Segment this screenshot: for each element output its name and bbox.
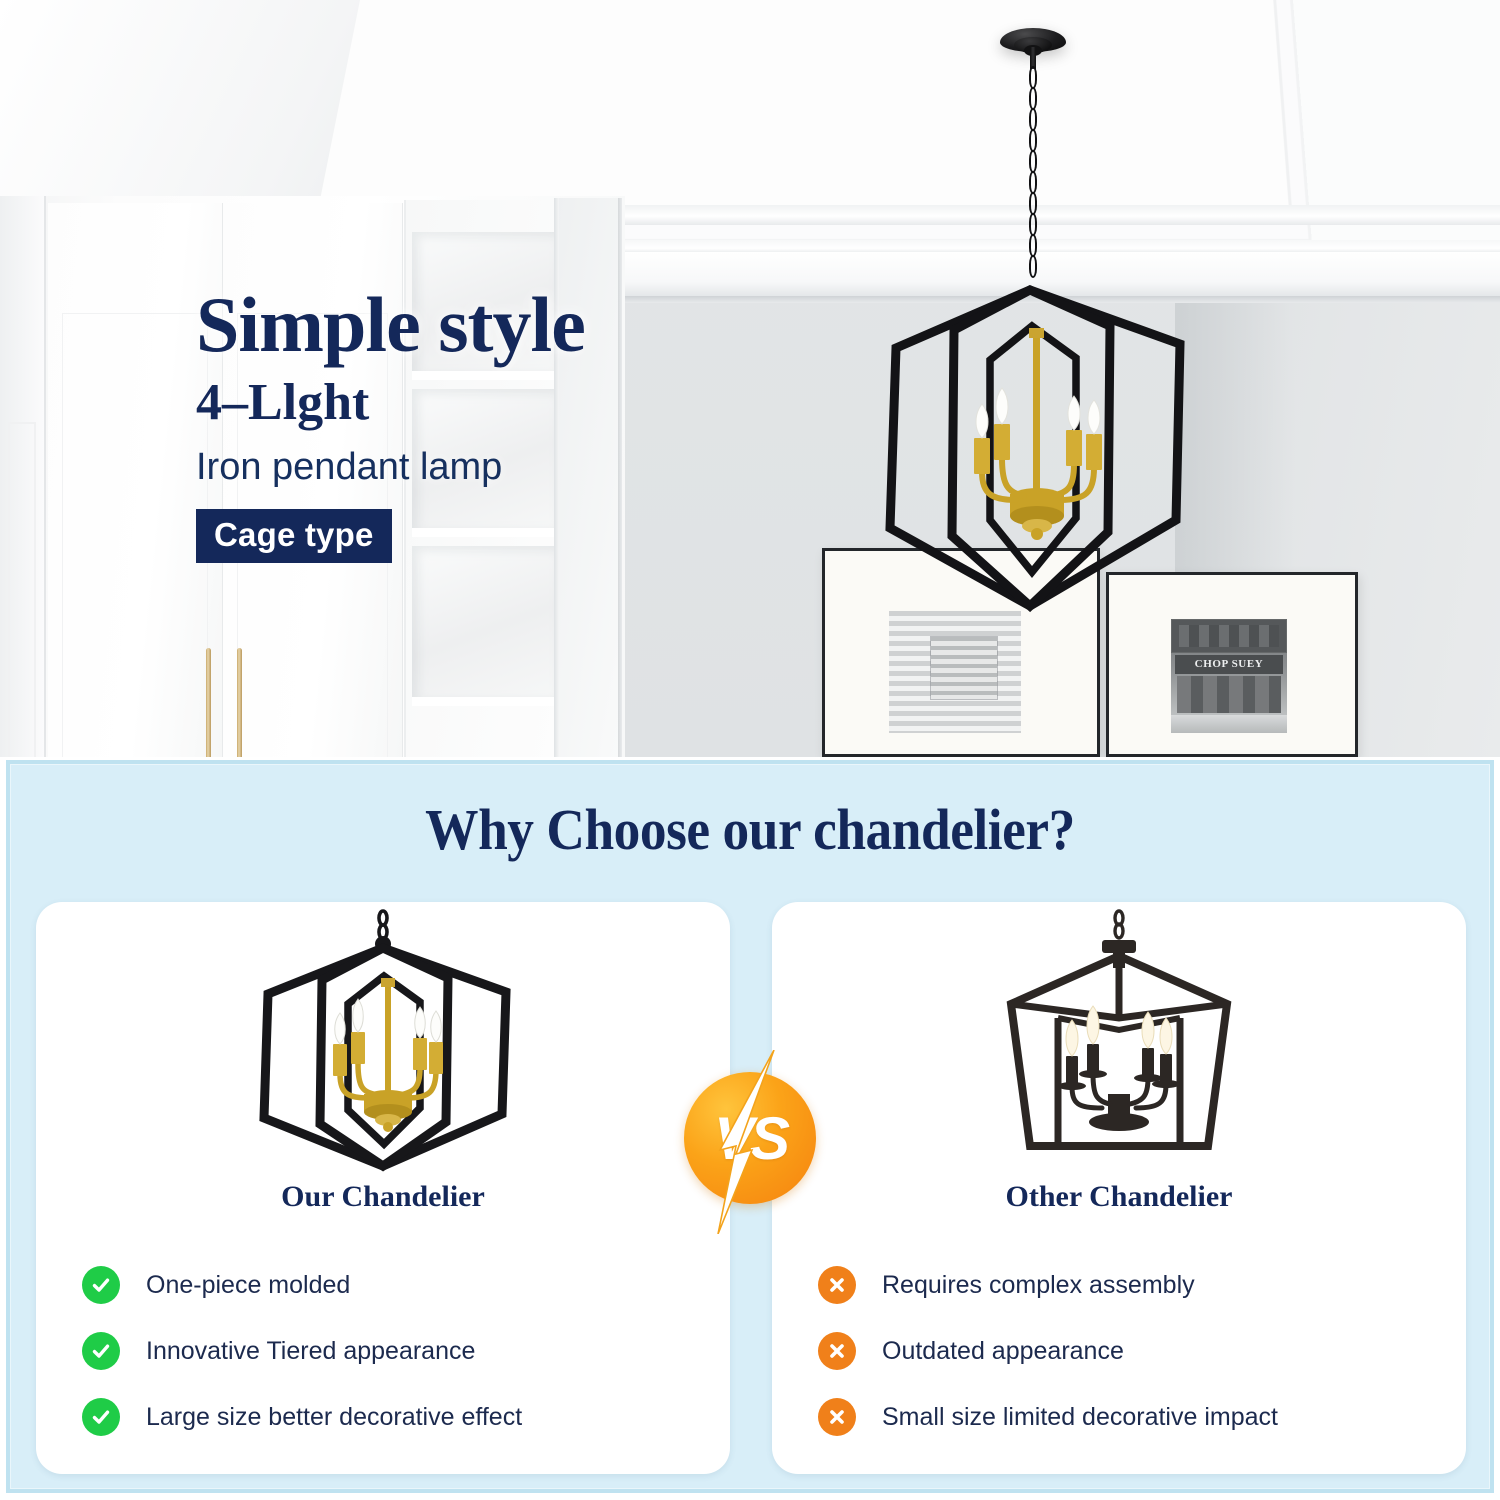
other-chandelier-bullets: Requires complex assembly Outdated appea… — [818, 1252, 1444, 1450]
list-item: Large size better decorative effect — [82, 1384, 708, 1450]
check-icon — [82, 1398, 120, 1436]
product-marketing-image: CHOP SUEY — [0, 0, 1500, 1500]
other-chandelier-image — [772, 908, 1466, 1174]
wardrobe-handle-right — [237, 648, 242, 757]
hero-chandelier — [880, 282, 1200, 614]
other-chandelier-label: Other Chandelier — [772, 1180, 1466, 1214]
hero-badge: Cage type — [196, 509, 392, 563]
hero-subtitle: 4–Llght — [196, 374, 585, 432]
our-chandelier-svg — [36, 908, 730, 1174]
shelf-niche-3 — [412, 546, 554, 706]
wall-corner-line — [618, 198, 622, 757]
photo-storefront-image: CHOP SUEY — [1171, 619, 1287, 733]
bullet-text: One-piece molded — [146, 1271, 350, 1300]
storefront-cornice — [1171, 619, 1287, 653]
list-item: Requires complex assembly — [818, 1252, 1444, 1318]
hero-description: Iron pendant lamp — [196, 446, 585, 489]
hero-title: Simple style — [196, 286, 585, 364]
list-item: Small size limited decorative impact — [818, 1384, 1444, 1450]
cross-icon — [818, 1266, 856, 1304]
hero-section: CHOP SUEY — [0, 0, 1500, 757]
chandelier-cage-svg — [880, 282, 1200, 614]
our-chandelier-bullets: One-piece molded Innovative Tiered appea… — [82, 1252, 708, 1450]
storefront-facade — [1177, 676, 1281, 713]
cross-icon — [818, 1332, 856, 1370]
lightning-bolt-icon — [678, 1050, 822, 1234]
our-chandelier-label: Our Chandelier — [36, 1180, 730, 1214]
wardrobe-left-jamb — [0, 196, 46, 757]
bullet-text: Innovative Tiered appearance — [146, 1337, 475, 1366]
wardrobe-handle-left — [206, 648, 211, 757]
other-chandelier-svg — [772, 908, 1466, 1174]
vs-badge: VS — [678, 1068, 822, 1212]
wardrobe-door-panel — [62, 313, 208, 757]
storefront-sign-text: CHOP SUEY — [1175, 655, 1283, 674]
other-chandelier-card: Other Chandelier Requires complex assemb… — [772, 902, 1466, 1474]
our-chandelier-card: Our Chandelier One-piece molded Innovati… — [36, 902, 730, 1474]
bullet-text: Requires complex assembly — [882, 1271, 1195, 1300]
wardrobe-jamb-inner-line — [8, 422, 36, 757]
bullet-text: Large size better decorative effect — [146, 1403, 522, 1432]
storefront-awning — [1171, 715, 1287, 733]
check-icon — [82, 1332, 120, 1370]
bullet-text: Small size limited decorative impact — [882, 1403, 1278, 1432]
our-chandelier-image — [36, 908, 730, 1174]
cross-icon — [818, 1398, 856, 1436]
list-item: Innovative Tiered appearance — [82, 1318, 708, 1384]
photo-blinds-image — [889, 611, 1021, 733]
comparison-title: Why Choose our chandelier? — [69, 796, 1431, 863]
list-item: One-piece molded — [82, 1252, 708, 1318]
hero-text-block: Simple style 4–Llght Iron pendant lamp C… — [196, 286, 585, 563]
check-icon — [82, 1266, 120, 1304]
bullet-text: Outdated appearance — [882, 1337, 1124, 1366]
suspension-chain — [1026, 66, 1040, 288]
list-item: Outdated appearance — [818, 1318, 1444, 1384]
